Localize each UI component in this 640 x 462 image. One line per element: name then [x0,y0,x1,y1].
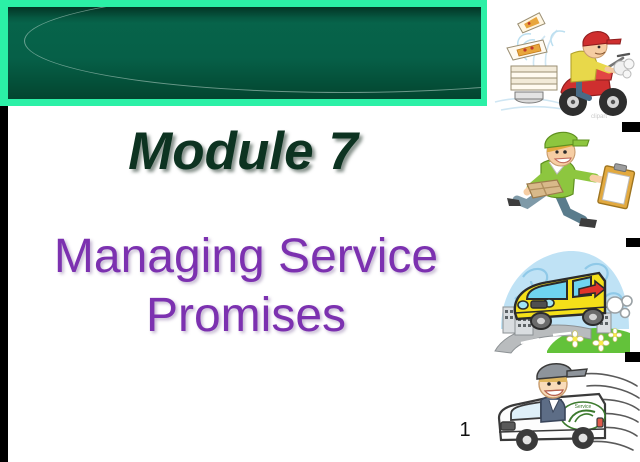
black-separator-mark-3 [625,352,640,362]
white-delivery-van-driver-clipart: Service [487,360,640,462]
slide-canvas: Module 7 Managing Service Promises 1 [0,0,640,462]
yellow-delivery-van-clipart [487,243,640,355]
header-banner [0,0,487,106]
page-number: 1 [452,419,478,442]
slide-subtitle: Managing Service Promises [8,228,484,345]
header-ellipse-decoration [24,7,481,93]
slide-title: Module 7 [8,124,478,180]
slide-subtitle-line-1: Managing Service [8,228,484,287]
white-delivery-van-driver-svg: Service [487,360,640,462]
left-vertical-bar [0,103,8,462]
running-courier-svg [487,128,640,238]
running-courier-clipart [487,128,640,238]
svg-text:clipart: clipart [591,114,607,120]
black-separator-mark-1 [622,122,640,132]
pizza-delivery-scooter-clipart: clipart [487,6,640,122]
black-separator-mark-2 [626,238,640,247]
yellow-delivery-van-svg [487,243,640,355]
header-banner-fill [8,7,481,99]
slide-subtitle-line-2: Promises [8,287,484,346]
svg-text:Service: Service [575,404,592,410]
pizza-delivery-scooter-svg: clipart [487,6,640,122]
